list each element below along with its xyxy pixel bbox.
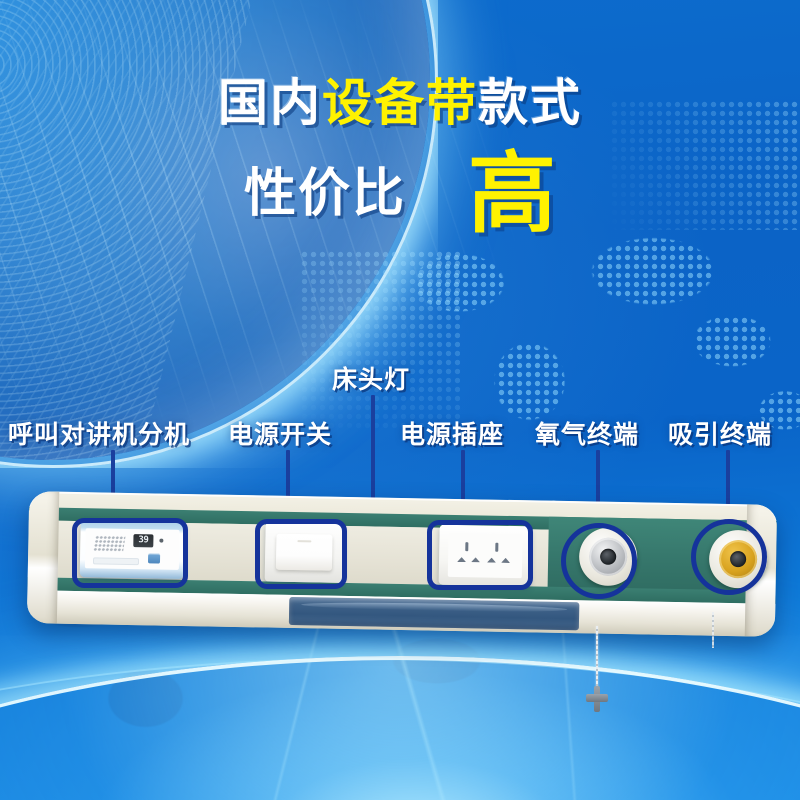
callout-label-bed-light: 床头灯 xyxy=(332,360,410,396)
horizon-glow xyxy=(0,656,800,800)
callout-label-power-switch: 电源开关 xyxy=(228,415,332,451)
headline-line1-highlight: 设备带 xyxy=(322,74,478,132)
headline-line2-big: 高 xyxy=(468,150,556,238)
headline-line2-text: 性价比 xyxy=(244,168,406,220)
callout-label-power-socket: 电源插座 xyxy=(400,415,504,451)
highlight-box-power-switch xyxy=(255,519,347,589)
unit-end-cap-left xyxy=(27,491,59,624)
highlight-circle-suction xyxy=(691,519,767,595)
headline-line1-part2: 款式 xyxy=(478,74,582,132)
headline-line-2: 性价比高 xyxy=(0,150,800,238)
headline-block: 国内设备带款式 性价比高 xyxy=(0,78,800,238)
headline-line1-part1: 国内 xyxy=(218,74,322,132)
pull-cord-secondary[interactable] xyxy=(712,612,714,648)
headline-line-1: 国内设备带款式 xyxy=(0,78,800,128)
highlight-box-power-socket xyxy=(427,520,533,590)
toggle-bar-horizontal xyxy=(586,694,608,702)
callout-label-suction-outlet: 吸引终端 xyxy=(668,415,772,451)
pull-cord-toggle[interactable] xyxy=(586,686,608,712)
callout-label-oxygen-outlet: 氧气终端 xyxy=(535,415,639,451)
highlight-box-intercom xyxy=(72,518,188,588)
pull-cord[interactable] xyxy=(596,626,598,694)
poster-canvas: 国内设备带款式 性价比高 呼叫对讲机分机 电源开关 床头灯 电源插座 氧气终端 … xyxy=(0,0,800,800)
callout-label-intercom: 呼叫对讲机分机 xyxy=(8,415,190,451)
bed-light-lens[interactable] xyxy=(289,597,579,630)
highlight-circle-oxygen xyxy=(561,523,637,599)
dot-pattern-left xyxy=(300,250,460,430)
